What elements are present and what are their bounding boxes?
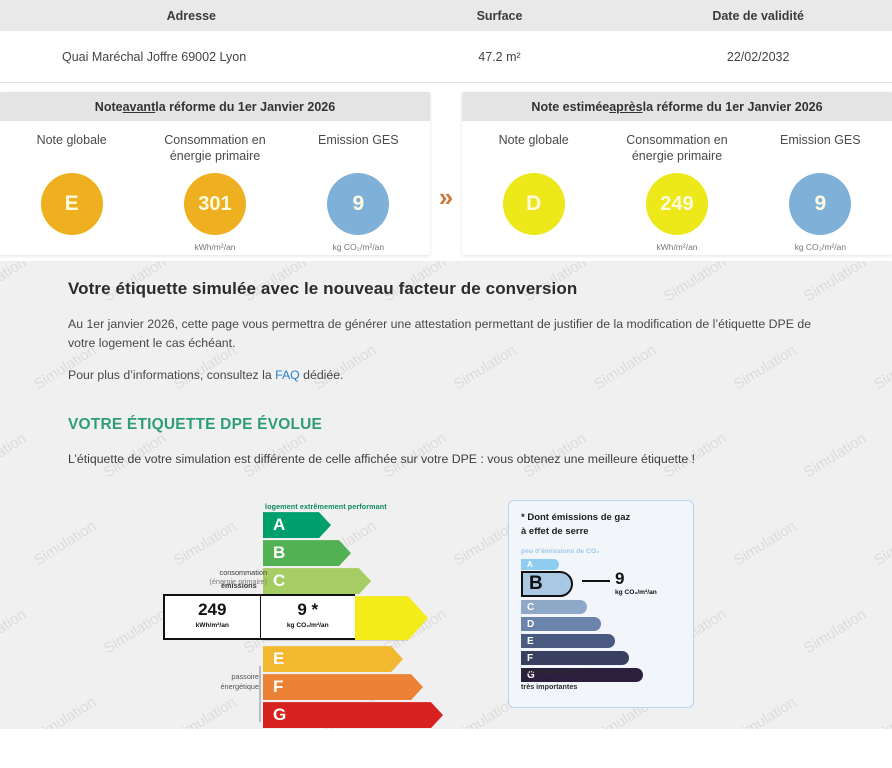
dpe-consumption-unit: kWh/m²/an: [165, 622, 260, 629]
dpe-energy-label-chart: logement extrêmement performant ABCDEFG …: [155, 494, 455, 729]
metric-note-globale-before: Note globale E: [0, 133, 143, 242]
metric-label: Note globale: [0, 133, 143, 165]
ges-bar-f: F: [521, 651, 629, 665]
info-table-header: Adresse Surface Date de validité: [0, 0, 892, 31]
ges-title-line1: * Dont émissions de gaz: [521, 511, 630, 525]
dpe-consumption-line1: consommation: [99, 568, 267, 577]
ges-value: 9: [615, 569, 624, 589]
ges-footer-line1: émissions de CO₂: [521, 667, 583, 676]
simulation-content: Votre étiquette simulée avec le nouveau …: [0, 261, 892, 466]
ges-title-line2: à effet de serre: [521, 525, 630, 539]
section-heading-etiquette-evolue: VOTRE ÉTIQUETTE DPE ÉVOLUE: [68, 416, 824, 434]
metric-note-globale-after: Note globale D: [462, 133, 605, 242]
page-root: Adresse Surface Date de validité Quai Ma…: [0, 0, 892, 768]
metric-consommation-before: Consommation en énergie primaire 301 kWh…: [143, 133, 286, 252]
dpe-emissions-unit: kg CO₂/m²/an: [261, 622, 356, 629]
cell-adresse: Quai Maréchal Joffre 69002 Lyon: [0, 50, 375, 64]
dpe-emissions-cell: 9 * kg CO₂/m²/an: [260, 596, 356, 638]
metric-circle: E: [41, 173, 103, 235]
card-body-before: Note globale E Consommation en énergie p…: [0, 121, 430, 255]
metric-label: Emission GES: [287, 133, 430, 165]
metric-circle: D: [503, 173, 565, 235]
card-title-before-prefix: Note: [95, 100, 123, 114]
metric-unit: kg CO₂/m²/an: [749, 242, 892, 252]
passoire-line2: énergétique: [173, 682, 259, 692]
faq-link[interactable]: FAQ: [275, 368, 300, 382]
ges-bar-letter: A: [527, 560, 533, 569]
metric-emission-ges-after: Emission GES 9 kg CO₂/m²/an: [749, 133, 892, 252]
page-title: Votre étiquette simulée avec le nouveau …: [68, 279, 824, 299]
dpe-bar-f: F: [263, 674, 423, 700]
dpe-bar-a: A: [263, 512, 331, 538]
dpe-consumption-cell: 249 kWh/m²/an: [165, 596, 260, 638]
metric-circle: 249: [646, 173, 708, 235]
dpe-bar-g: G: [263, 702, 443, 728]
metric-label: Note globale: [462, 133, 605, 165]
ges-bar-b: B: [521, 571, 573, 597]
metric-unit: kWh/m²/an: [143, 242, 286, 252]
ges-footer-line2: très importantes: [521, 682, 577, 691]
simulation-paragraph-2: Pour plus d’informations, consultez la F…: [68, 366, 824, 385]
metric-label: Consommation en énergie primaire: [605, 133, 748, 165]
ges-bar-c: C: [521, 600, 587, 614]
dpe-emissions-heading: émissions: [221, 581, 257, 590]
dpe-bar-letter: F: [273, 677, 283, 697]
card-title-after-prefix: Note estimée: [531, 100, 609, 114]
cell-date-validite: 22/02/2032: [624, 50, 892, 64]
passoire-bracket: [259, 666, 261, 722]
simulation-paragraph-1: Au 1er janvier 2026, cette page vous per…: [68, 315, 824, 353]
dpe-bar-letter: A: [273, 515, 285, 535]
labels-graphics: logement extrêmement performant ABCDEFG …: [0, 494, 892, 729]
card-title-before-suffix: la réforme du 1er Janvier 2026: [155, 100, 335, 114]
card-body-after: Note globale D Consommation en énergie p…: [462, 121, 892, 255]
passoire-energetique-label: passoire énergétique: [173, 672, 259, 692]
card-note-avant-reforme: Note avant la réforme du 1er Janvier 202…: [0, 92, 430, 255]
dpe-bar-letter: E: [273, 649, 284, 669]
metric-circle: 9: [327, 173, 389, 235]
col-header-date-validite: Date de validité: [624, 9, 892, 23]
dpe-bar-letter: B: [273, 543, 285, 563]
faq-text-before: Pour plus d’informations, consultez la: [68, 368, 275, 382]
dpe-bar-e: E: [263, 646, 403, 672]
simulation-note: L’étiquette de votre simulation est diff…: [68, 452, 824, 466]
dpe-emissions-value: 9 *: [261, 601, 356, 619]
card-header-after: Note estimée après la réforme du 1er Jan…: [462, 92, 892, 121]
table-row: Quai Maréchal Joffre 69002 Lyon 47.2 m² …: [0, 31, 892, 83]
ges-bar-d: D: [521, 617, 601, 631]
ges-bar-letter: D: [527, 619, 534, 630]
card-header-before: Note avant la réforme du 1er Janvier 202…: [0, 92, 430, 121]
ges-title: * Dont émissions de gaz à effet de serre: [521, 511, 630, 539]
chevron-right-double-icon: »: [430, 184, 462, 210]
ges-bar-e: E: [521, 634, 615, 648]
ges-bar-letter: E: [527, 636, 534, 647]
passoire-line1: passoire: [173, 672, 259, 682]
metric-label: Consommation en énergie primaire: [143, 133, 286, 165]
cell-surface: 47.2 m²: [375, 50, 625, 64]
ges-value-unit: kg CO₂/m²/an: [615, 589, 657, 596]
metric-label: Emission GES: [749, 133, 892, 165]
metric-emission-ges-before: Emission GES 9 kg CO₂/m²/an: [287, 133, 430, 252]
dpe-value-box: consommation (énergie primaire) émission…: [163, 594, 263, 640]
metric-unit: kWh/m²/an: [605, 242, 748, 252]
dpe-consumption-value: 249: [165, 601, 260, 619]
faq-text-after: dédiée.: [300, 368, 344, 382]
col-header-surface: Surface: [375, 9, 625, 23]
dpe-bar-c: C: [263, 568, 371, 594]
metric-circle: 9: [789, 173, 851, 235]
simulation-section: SimulationSimulationSimulationSimulation…: [0, 261, 892, 729]
ges-subtitle: peu d’émissions de CO₂: [521, 548, 599, 555]
card-title-after-underlined: après: [609, 100, 642, 114]
ges-bar-letter: F: [527, 653, 533, 664]
ges-emissions-chart: * Dont émissions de gaz à effet de serre…: [508, 500, 694, 708]
card-title-before-underlined: avant: [123, 100, 156, 114]
ges-bar-a: A: [521, 559, 559, 570]
dpe-bar-b: B: [263, 540, 351, 566]
metric-circle: 301: [184, 173, 246, 235]
metric-consommation-after: Consommation en énergie primaire 249 kWh…: [605, 133, 748, 252]
card-note-apres-reforme: Note estimée après la réforme du 1er Jan…: [462, 92, 892, 255]
ges-bar-letter: C: [527, 602, 534, 613]
metric-unit: kg CO₂/m²/an: [287, 242, 430, 252]
card-title-after-suffix: la réforme du 1er Janvier 2026: [643, 100, 823, 114]
col-header-adresse: Adresse: [0, 9, 375, 23]
ges-leader-line: [582, 580, 610, 582]
dpe-values: 249 kWh/m²/an 9 * kg CO₂/m²/an: [163, 594, 355, 640]
dpe-bar-letter: G: [273, 705, 286, 725]
ges-bar-letter: B: [529, 573, 543, 595]
comparison-cards: Note avant la réforme du 1er Janvier 202…: [0, 83, 892, 261]
dpe-bar-letter: C: [273, 571, 285, 591]
